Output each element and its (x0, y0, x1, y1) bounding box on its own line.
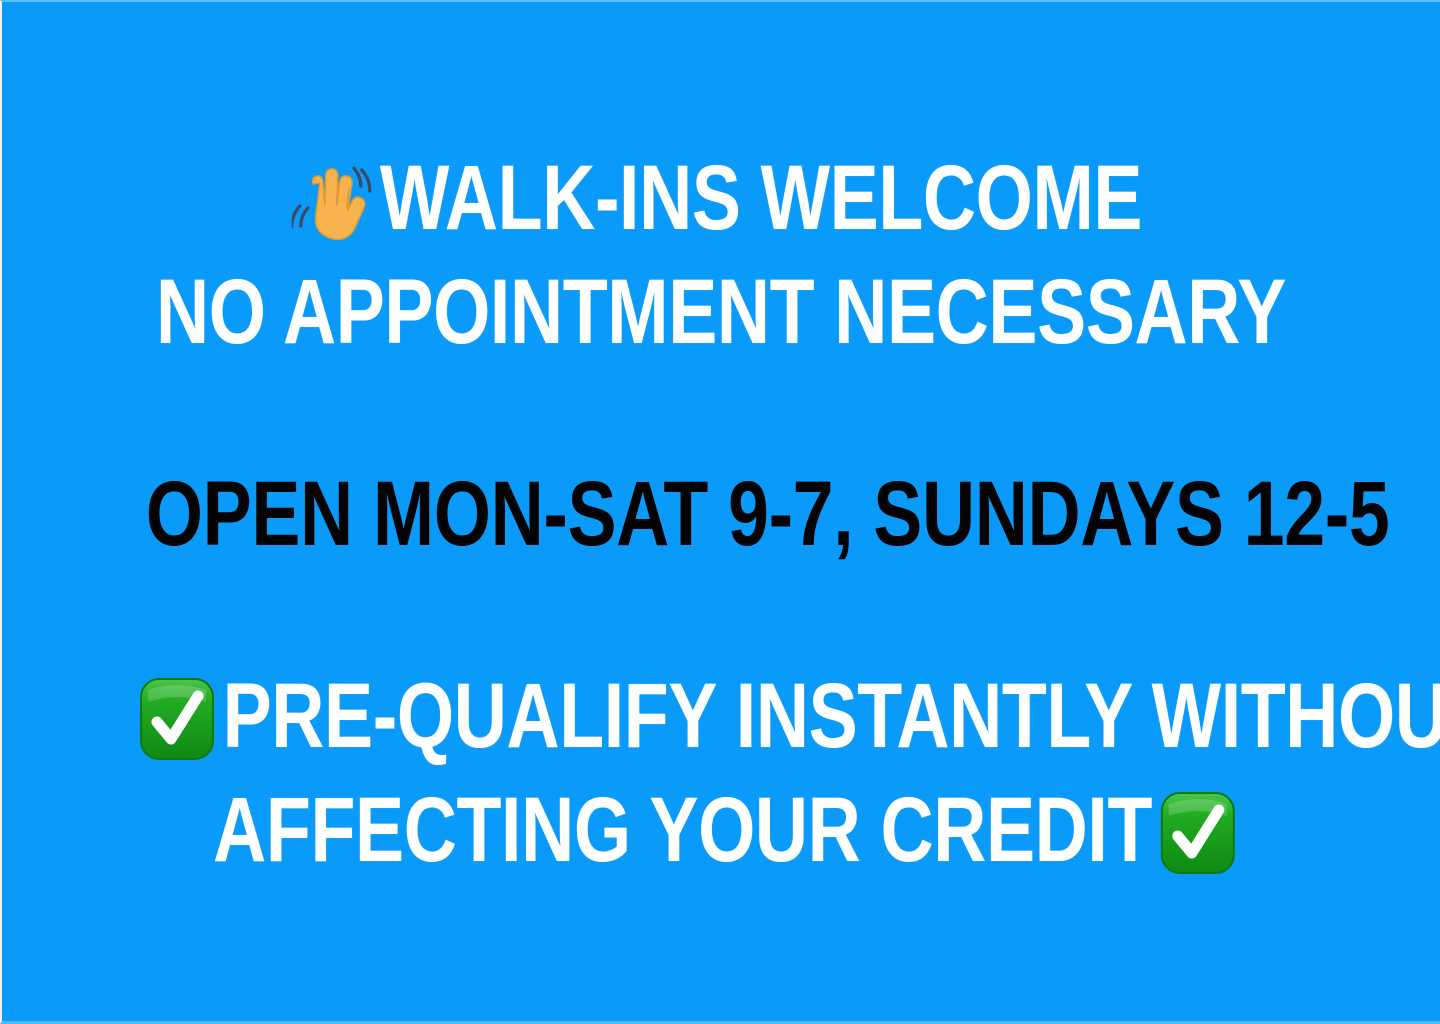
headline-walk-ins-welcome-text: WALK-INS WELCOME (380, 147, 1142, 249)
headline-no-appointment-necessary: NO APPOINTMENT NECESSARY (146, 266, 1296, 358)
store-hours-line: OPEN MON-SAT 9-7, SUNDAYS 12-5 (146, 468, 1296, 560)
check-mark-button-icon (138, 676, 216, 762)
promo-banner: WALK-INS WELCOME NO APPOINTMENT NECESSAR… (0, 0, 1440, 1024)
prequalify-line-1-text: PRE-QUALIFY INSTANTLY WITHOUT (223, 665, 1440, 767)
store-hours-text: OPEN MON-SAT 9-7, SUNDAYS 12-5 (146, 463, 1390, 565)
prequalify-line-1: PRE-QUALIFY INSTANTLY WITHOUT (146, 670, 1296, 762)
headline-no-appointment-necessary-text: NO APPOINTMENT NECESSARY (156, 261, 1286, 363)
headline-walk-ins-welcome: WALK-INS WELCOME (146, 152, 1296, 244)
prequalify-line-2: AFFECTING YOUR CREDIT (146, 784, 1296, 876)
check-mark-button-icon (1159, 790, 1237, 876)
prequalify-line-2-text: AFFECTING YOUR CREDIT (213, 779, 1152, 881)
waving-hand-icon (291, 160, 375, 244)
